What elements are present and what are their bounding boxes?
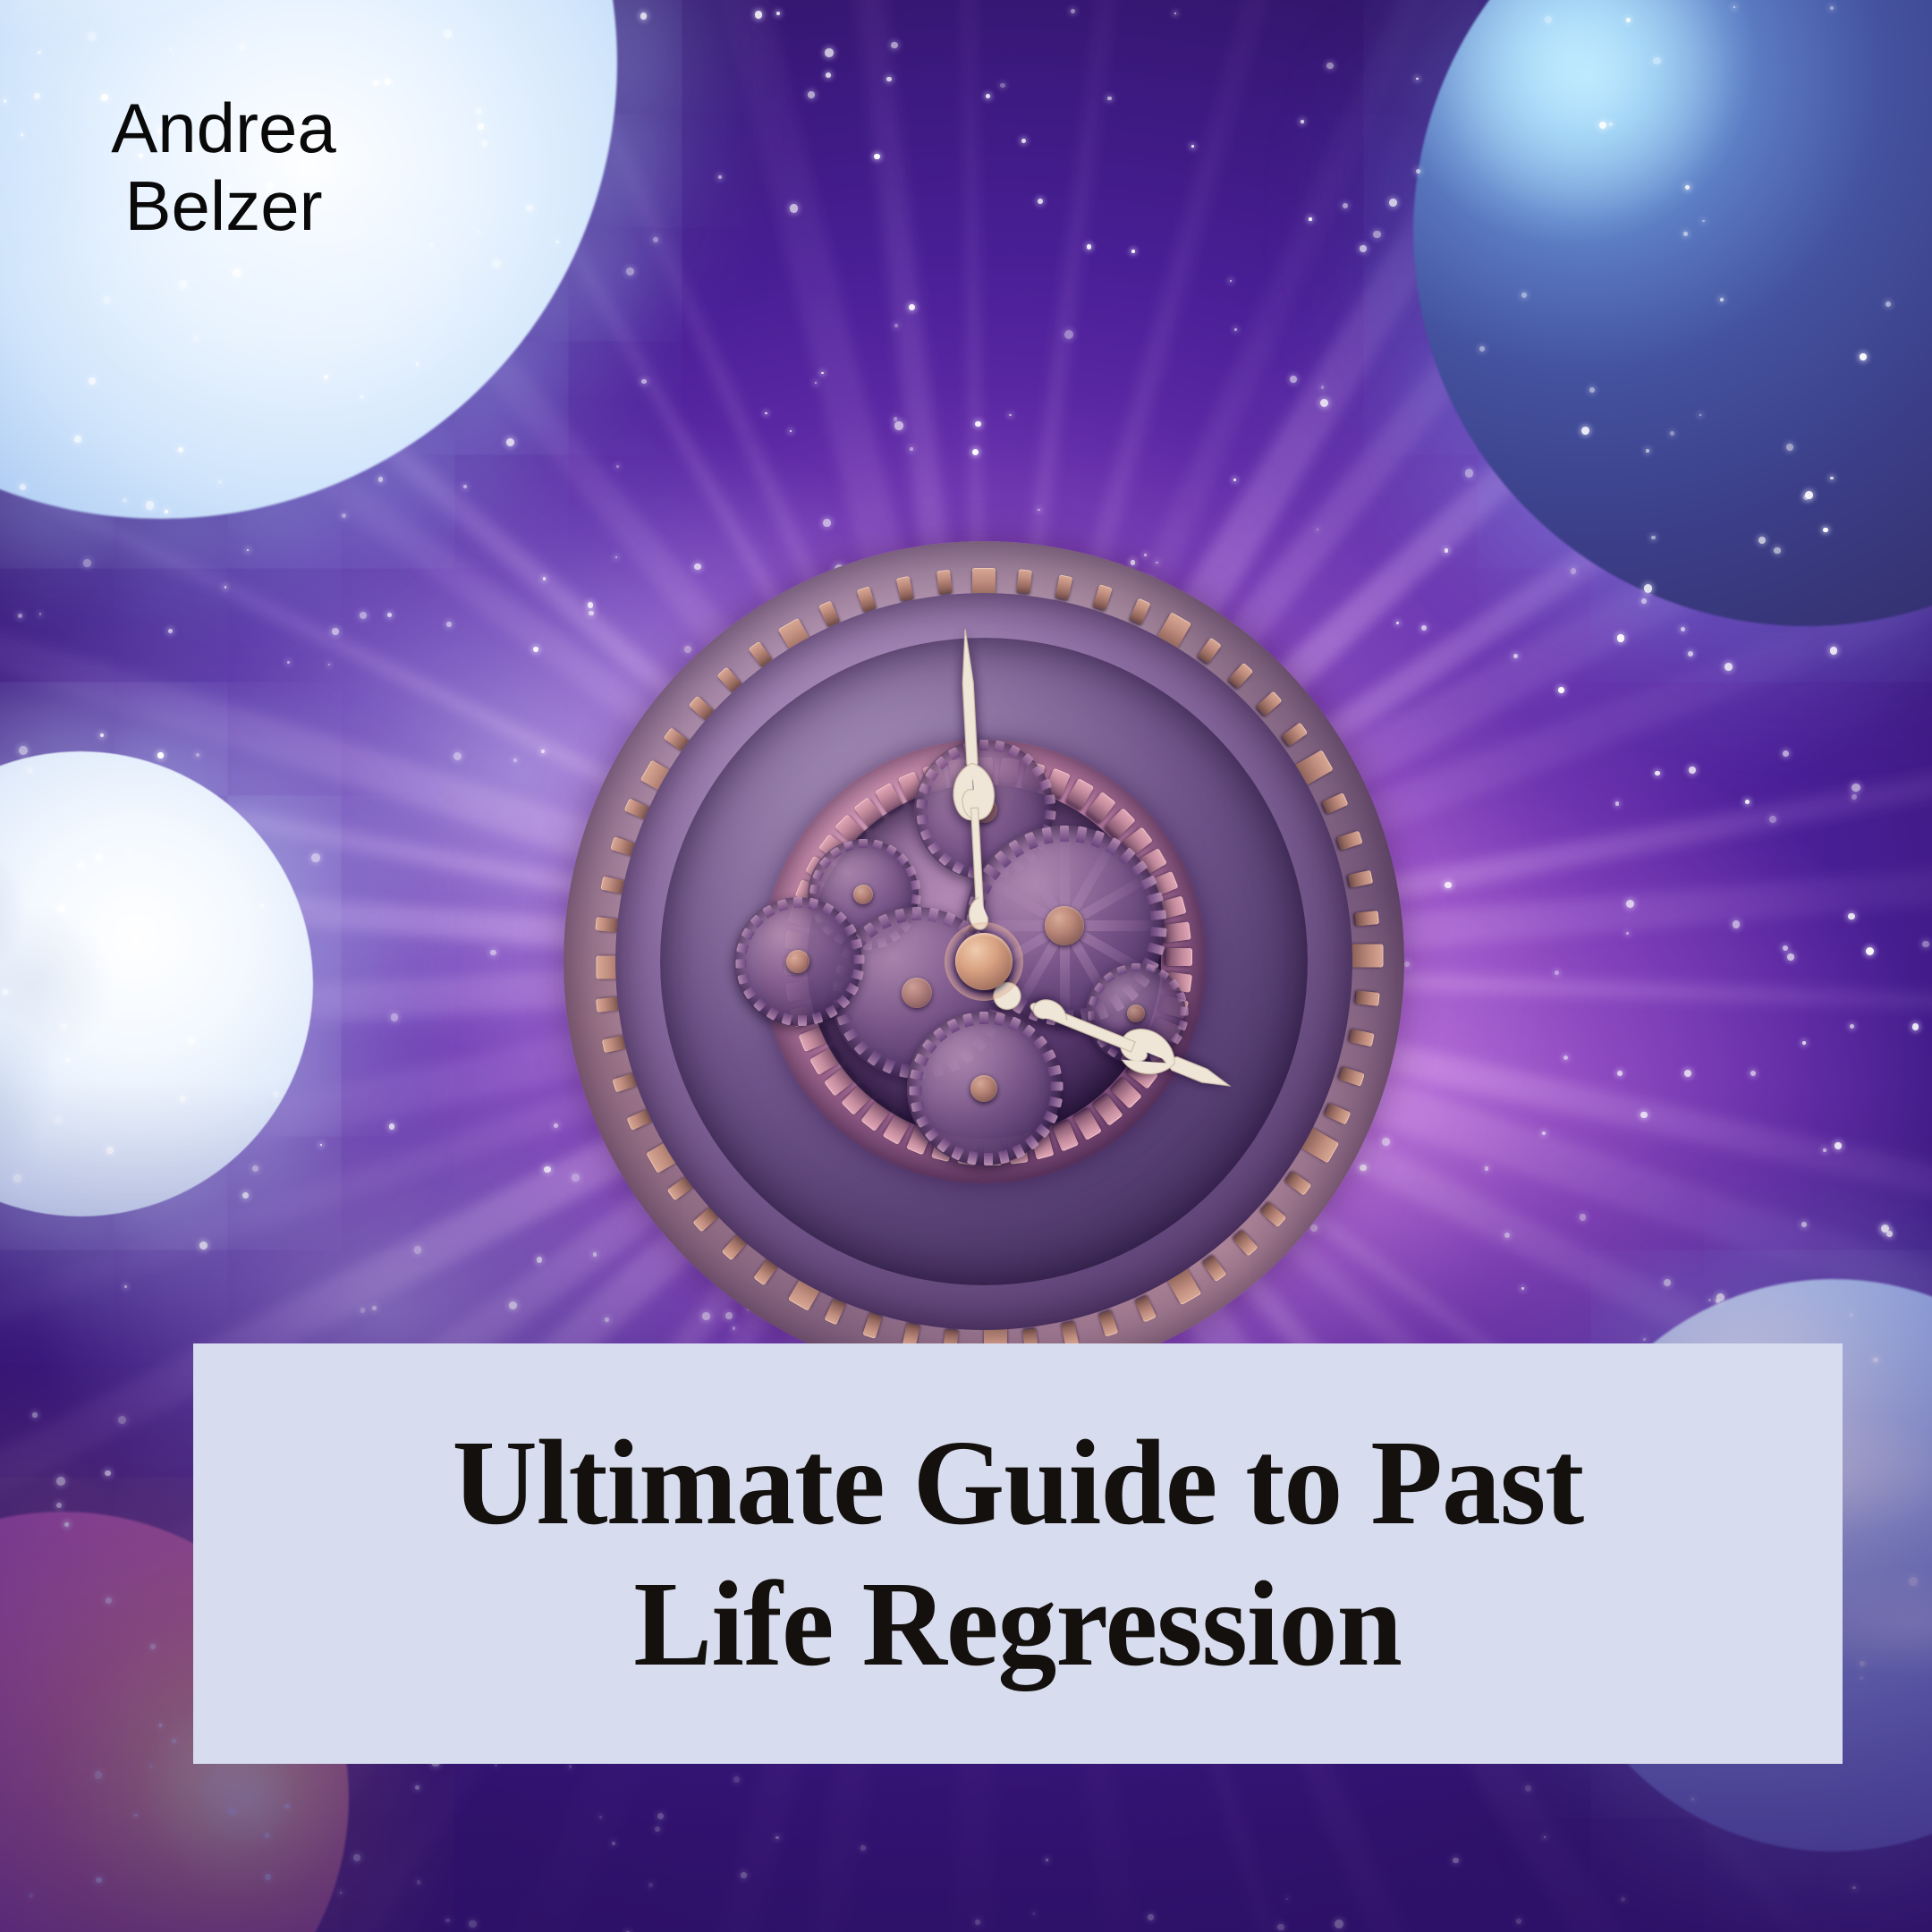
author-name: Andrea Belzer <box>36 89 411 246</box>
antique-clock: XII III VI IX <box>563 541 1404 1382</box>
title-panel: Ultimate Guide to Past Life Regression <box>193 1343 1843 1764</box>
title-line-2: Life Regression <box>634 1560 1402 1689</box>
clock-hands <box>563 541 1404 1382</box>
clock-hand-pivot <box>955 933 1013 990</box>
title-line-1: Ultimate Guide to Past <box>453 1419 1584 1547</box>
book-cover: XII III VI IX <box>0 0 1932 1932</box>
